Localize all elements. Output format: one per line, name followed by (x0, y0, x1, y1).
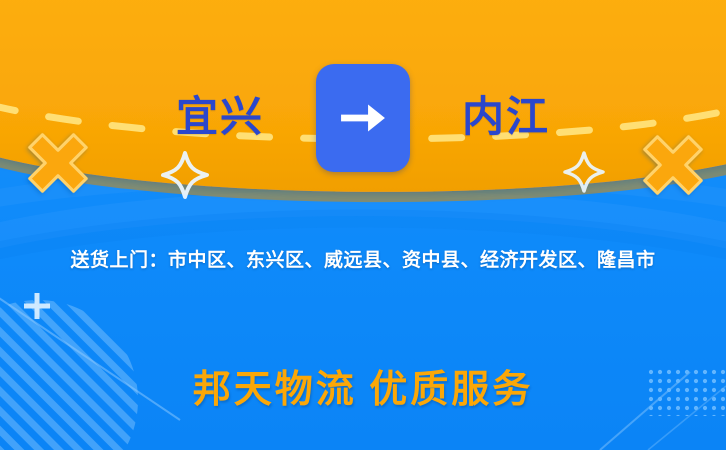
route-row: 宜兴 内江 (0, 60, 726, 175)
company-slogan: 邦天物流 优质服务 (0, 358, 726, 413)
origin-city-label: 宜兴 (176, 97, 264, 139)
destination-city-label: 内江 (462, 97, 550, 139)
logistics-route-banner: 宜兴 内江 送货上门：市中区、东兴区、威远县、资中县、经济开发区、隆昌市 邦天物… (0, 0, 726, 450)
delivery-coverage-text: 送货上门：市中区、东兴区、威远县、资中县、经济开发区、隆昌市 (0, 245, 726, 272)
white-plus-bottom-left (24, 293, 50, 319)
arrow-right-icon (316, 64, 410, 172)
